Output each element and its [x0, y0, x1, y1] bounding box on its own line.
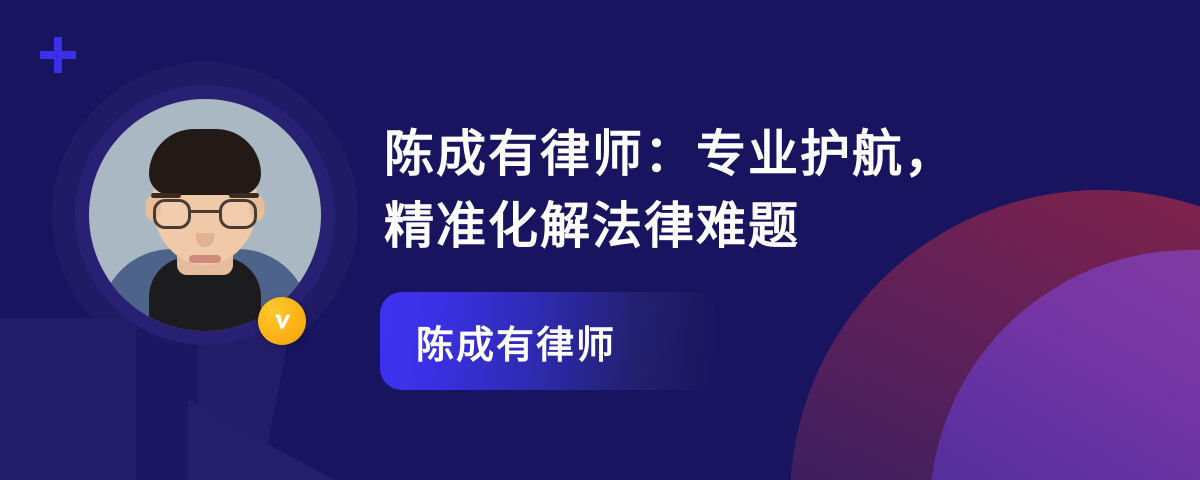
- decorative-triangle-wedge: [188, 400, 338, 480]
- avatar-photo: [89, 99, 321, 331]
- headline-block: 陈成有律师：专业护航， 精准化解法律难题: [384, 118, 1104, 262]
- verified-badge-icon: [258, 297, 306, 345]
- headline-line-1: 陈成有律师：专业护航，: [384, 118, 1104, 190]
- portrait-mouth: [189, 255, 221, 263]
- portrait-glasses-lens-right: [219, 199, 257, 229]
- plus-icon: [40, 37, 76, 73]
- portrait-eyebrow-right: [229, 193, 259, 198]
- lawyer-profile-banner: 陈成有律师：专业护航， 精准化解法律难题 陈成有律师: [0, 0, 1200, 480]
- portrait-glasses: [153, 199, 257, 229]
- portrait-glasses-lens-left: [153, 199, 191, 229]
- portrait-hair: [149, 129, 261, 195]
- page-title: 陈成有律师：专业护航， 精准化解法律难题: [384, 118, 1104, 262]
- portrait-eyebrow-left: [151, 193, 181, 198]
- headline-line-2: 精准化解法律难题: [384, 190, 1104, 262]
- lawyer-name-button[interactable]: 陈成有律师: [380, 292, 716, 390]
- portrait-glasses-bridge: [191, 210, 219, 213]
- avatar: [75, 85, 335, 345]
